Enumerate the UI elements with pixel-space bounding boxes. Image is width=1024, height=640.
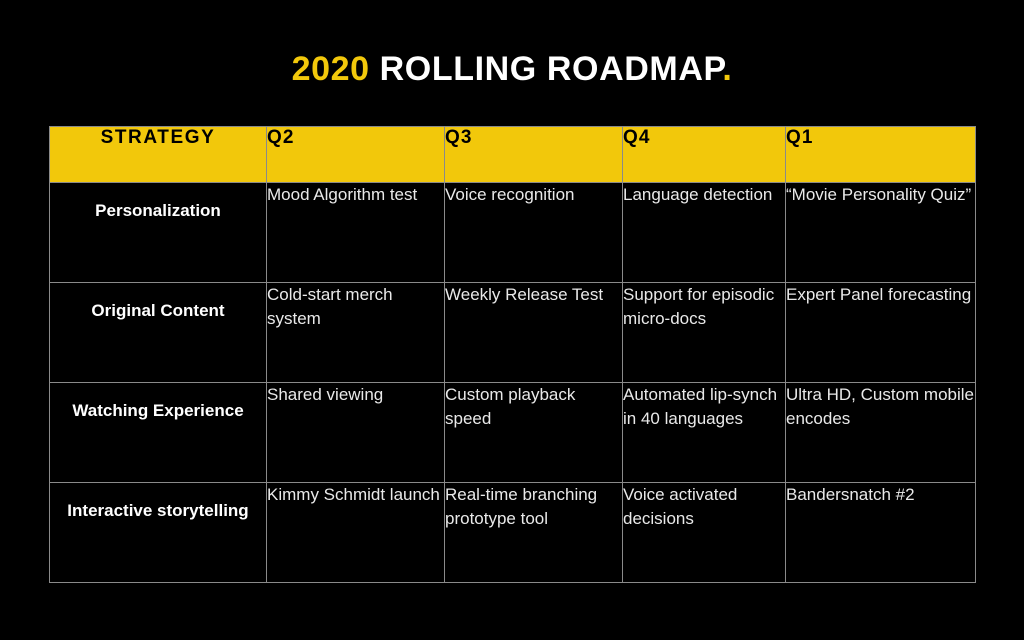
title-period: .: [722, 50, 732, 88]
cell-q1: “Movie Personality Quiz”: [786, 183, 976, 283]
cell-q1: Bandersnatch #2: [786, 483, 976, 583]
cell-strategy: Watching Experience: [50, 383, 267, 483]
column-header-q1: Q1: [786, 127, 976, 183]
table-row: Personalization Mood Algorithm test Voic…: [50, 183, 976, 283]
cell-q3: Weekly Release Test: [445, 283, 623, 383]
table-body: Personalization Mood Algorithm test Voic…: [50, 183, 976, 583]
cell-q3: Voice recognition: [445, 183, 623, 283]
roadmap-table: STRATEGY Q2 Q3 Q4 Q1 Personalization Moo…: [49, 126, 976, 583]
cell-q2: Cold-start merch system: [267, 283, 445, 383]
cell-q4: Automated lip-synch in 40 languages: [623, 383, 786, 483]
table-header: STRATEGY Q2 Q3 Q4 Q1: [50, 127, 976, 183]
cell-strategy: Interactive storytelling: [50, 483, 267, 583]
title-container: 2020 ROLLING ROADMAP.: [0, 50, 1024, 89]
page-title: 2020 ROLLING ROADMAP.: [292, 50, 733, 89]
cell-q2: Mood Algorithm test: [267, 183, 445, 283]
cell-q1: Expert Panel forecasting: [786, 283, 976, 383]
title-main: ROLLING ROADMAP: [370, 50, 723, 88]
table-row: Interactive storytelling Kimmy Schmidt l…: [50, 483, 976, 583]
cell-strategy: Original Content: [50, 283, 267, 383]
title-year: 2020: [292, 50, 370, 88]
column-header-strategy: STRATEGY: [50, 127, 267, 183]
cell-q3: Real-time branching prototype tool: [445, 483, 623, 583]
cell-q1: Ultra HD, Custom mobile encodes: [786, 383, 976, 483]
table-row: Original Content Cold-start merch system…: [50, 283, 976, 383]
cell-q3: Custom playback speed: [445, 383, 623, 483]
cell-strategy: Personalization: [50, 183, 267, 283]
column-header-q2: Q2: [267, 127, 445, 183]
column-header-q3: Q3: [445, 127, 623, 183]
header-row: STRATEGY Q2 Q3 Q4 Q1: [50, 127, 976, 183]
cell-q2: Kimmy Schmidt launch: [267, 483, 445, 583]
cell-q4: Voice activated decisions: [623, 483, 786, 583]
table-row: Watching Experience Shared viewing Custo…: [50, 383, 976, 483]
cell-q2: Shared viewing: [267, 383, 445, 483]
column-header-q4: Q4: [623, 127, 786, 183]
slide-canvas: 2020 ROLLING ROADMAP. STRATEGY Q2 Q3 Q4 …: [0, 0, 1024, 640]
cell-q4: Support for episodic micro-docs: [623, 283, 786, 383]
cell-q4: Language detection: [623, 183, 786, 283]
